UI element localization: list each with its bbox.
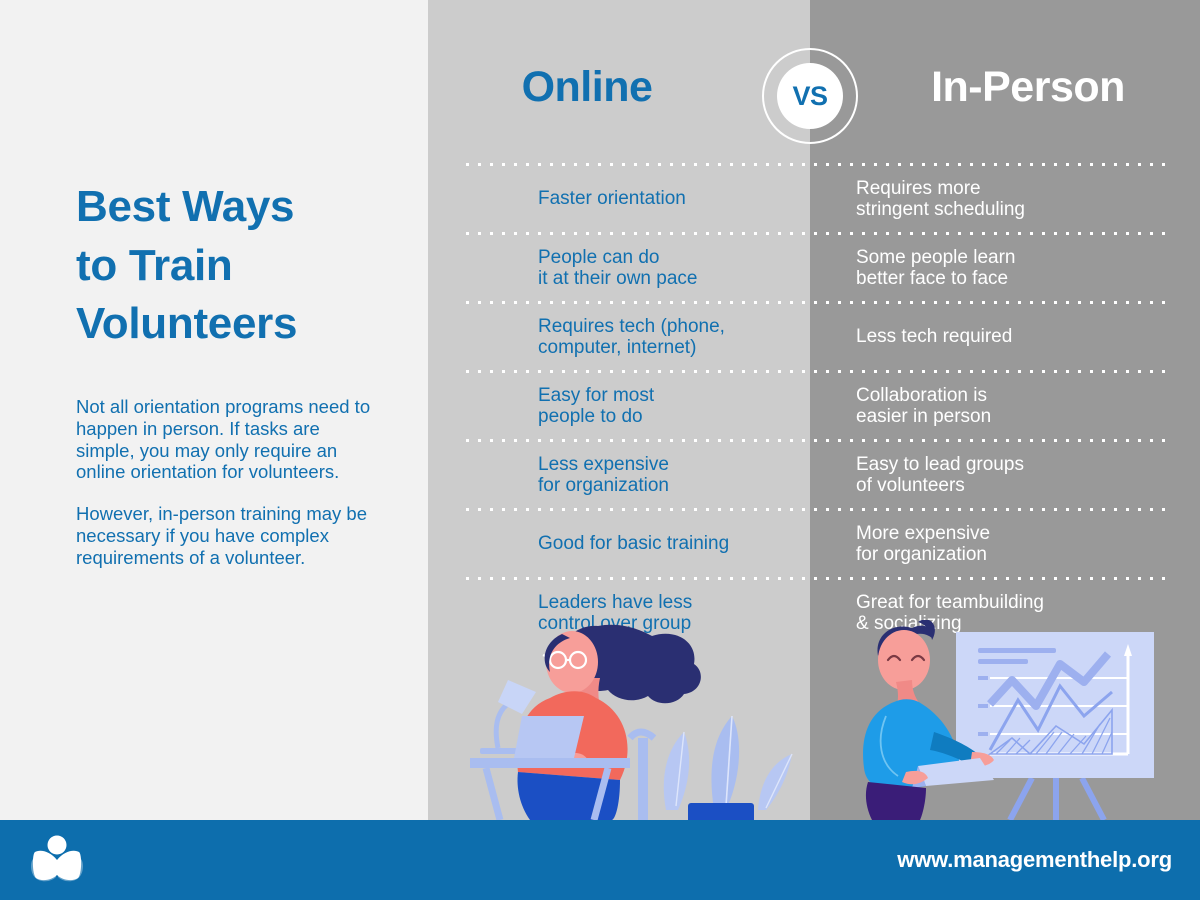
online-illustration <box>470 620 810 820</box>
title-line-3: Volunteers <box>76 295 406 354</box>
online-cell-line-2: people to do <box>538 406 810 427</box>
inperson-cell: More expensive for organization <box>810 523 1166 566</box>
inperson-cell-line-2: easier in person <box>856 406 1166 427</box>
inperson-cell-line-1: More expensive <box>856 523 990 544</box>
title-line-2: to Train <box>76 237 406 296</box>
vs-badge: VS <box>762 48 858 144</box>
page-title: Best Ways to Train Volunteers <box>76 178 406 354</box>
online-cell-line-2: for organization <box>538 475 810 496</box>
inperson-cell: Less tech required <box>810 326 1166 347</box>
inperson-cell: Collaboration is easier in person <box>810 385 1166 428</box>
logo-left-wing <box>31 856 56 881</box>
online-cell-line-1: People can do <box>538 247 660 268</box>
online-cell: Less expensive for organization <box>466 454 810 497</box>
online-cell-line-1: Good for basic training <box>538 533 729 554</box>
vs-badge-inner: VS <box>777 63 843 129</box>
online-cell-line-1: Requires tech (phone, <box>538 316 725 337</box>
online-cell-line-1: Faster orientation <box>538 188 686 209</box>
site-url[interactable]: www.managementhelp.org <box>897 847 1172 873</box>
inperson-cell-line-2: for organization <box>856 544 1166 565</box>
site-logo[interactable] <box>28 832 86 888</box>
inperson-cell: Easy to lead groups of volunteers <box>810 454 1166 497</box>
comparison-table: Faster orientation Requires more stringe… <box>466 163 1166 646</box>
vs-label: VS <box>792 83 827 110</box>
online-cell: People can do it at their own pace <box>466 247 810 290</box>
inperson-cell-line-1: Great for teambuilding <box>856 592 1044 613</box>
logo-right-wing <box>58 856 83 881</box>
inperson-cell: Requires more stringent scheduling <box>810 178 1166 221</box>
inperson-cell-line-2: better face to face <box>856 268 1166 289</box>
inperson-cell-line-2: stringent scheduling <box>856 199 1166 220</box>
table-row: Requires tech (phone, computer, internet… <box>466 304 1166 370</box>
intro-paragraph-2: However, in-person training may be neces… <box>76 503 376 568</box>
online-cell: Requires tech (phone, computer, internet… <box>466 316 810 359</box>
left-panel: Best Ways to Train Volunteers Not all or… <box>0 0 428 820</box>
table-row: Easy for most people to do Collaboration… <box>466 373 1166 439</box>
inperson-cell-line-2: of volunteers <box>856 475 1166 496</box>
online-cell-line-1: Easy for most <box>538 385 654 406</box>
intro-paragraph-1: Not all orientation programs need to hap… <box>76 396 376 483</box>
table-row: People can do it at their own pace Some … <box>466 235 1166 301</box>
online-cell: Good for basic training <box>466 533 810 554</box>
inperson-cell-line-1: Less tech required <box>856 326 1012 347</box>
online-column-header: Online <box>428 63 810 112</box>
footer-bar: www.managementhelp.org <box>0 820 1200 900</box>
intro-text: Not all orientation programs need to hap… <box>76 396 376 569</box>
inperson-illustration <box>860 620 1190 820</box>
chair-shape <box>630 732 654 820</box>
inperson-column-header: In-Person <box>810 63 1200 112</box>
online-cell-line-2: it at their own pace <box>538 268 810 289</box>
table-row: Less expensive for organization Easy to … <box>466 442 1166 508</box>
trousers-shape <box>866 782 926 820</box>
infographic-canvas: Best Ways to Train Volunteers Not all or… <box>0 0 1200 900</box>
inperson-cell-line-1: Easy to lead groups <box>856 454 1024 475</box>
online-cell-line-1: Leaders have less <box>538 592 692 613</box>
online-cell-line-2: computer, internet) <box>538 337 810 358</box>
online-cell: Faster orientation <box>466 188 810 209</box>
title-line-1: Best Ways <box>76 178 406 237</box>
inperson-cell: Some people learn better face to face <box>810 247 1166 290</box>
easel-stand <box>1010 778 1104 820</box>
inperson-cell-line-1: Collaboration is <box>856 385 987 406</box>
online-cell: Easy for most people to do <box>466 385 810 428</box>
inperson-cell-line-1: Requires more <box>856 178 981 199</box>
online-cell-line-1: Less expensive <box>538 454 669 475</box>
table-row: Good for basic training More expensive f… <box>466 511 1166 577</box>
potted-plant-icon <box>664 716 792 820</box>
logo-head-shape <box>48 836 67 855</box>
inperson-cell-line-1: Some people learn <box>856 247 1016 268</box>
table-row: Faster orientation Requires more stringe… <box>466 166 1166 232</box>
desk-leg <box>486 768 500 820</box>
